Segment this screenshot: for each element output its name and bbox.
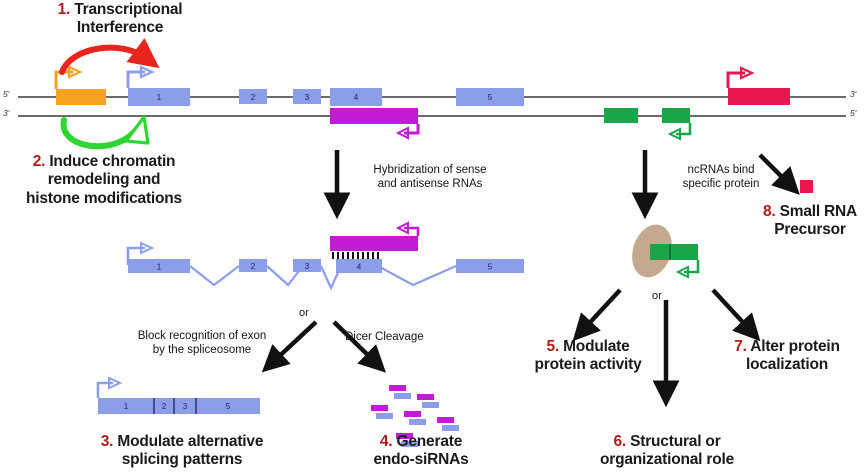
- step-2-number: 2.: [33, 153, 46, 170]
- ncrna-gene-1: [604, 108, 638, 123]
- step-7-number: 7.: [734, 338, 747, 355]
- step-7-line-1: Alter protein: [750, 338, 840, 355]
- step-4-label: 4. Generate endo-siRNAs: [341, 433, 501, 470]
- sirna-duplex: [404, 411, 426, 425]
- spliced-mrna: 1 2 3 5: [98, 378, 260, 414]
- small-rna-precursor-product: [800, 180, 813, 193]
- step-5-number: 5.: [546, 338, 559, 355]
- diagram-svg: 1 2 3 4 5: [0, 0, 864, 474]
- protein-ncrna-complex: [626, 219, 698, 282]
- ncrna-bind-line-1: ncRNAs bind: [687, 164, 754, 176]
- step-5-line-1: Modulate: [563, 338, 629, 355]
- svg-text:1: 1: [124, 402, 129, 411]
- annotation-dicer-cleavage: Dicer Cleavage: [345, 330, 465, 344]
- svg-text:4: 4: [357, 263, 362, 272]
- block-exon-line-1: Block recognition of exon: [138, 330, 267, 342]
- step-7-label: 7. Alter protein localization: [712, 338, 862, 375]
- step-6-line-1: Structural or: [630, 433, 720, 450]
- step-1-line-1: Transcriptional: [74, 1, 182, 18]
- dicer-label: Dicer Cleavage: [345, 331, 424, 343]
- step-8-label: 8. Small RNA Precursor: [756, 203, 864, 240]
- ncrna-bind-line-2: specific protein: [683, 178, 760, 190]
- step-8-line-2: Precursor: [774, 221, 845, 238]
- step-2-label: 2. Induce chromatin remodeling and histo…: [0, 153, 208, 208]
- step-1-line-2: Interference: [77, 19, 163, 36]
- svg-text:5: 5: [226, 402, 231, 411]
- hybridization-line-1: Hybridization of sense: [373, 164, 486, 176]
- hybridized-antisense-rna: [330, 223, 418, 259]
- svg-text:2: 2: [162, 402, 167, 411]
- step-3-line-1: Modulate alternative: [117, 433, 263, 450]
- svg-text:3: 3: [183, 402, 188, 411]
- label-top-strand-3prime: 3': [850, 89, 856, 99]
- annotation-block-spliceosome: Block recognition of exon by the spliceo…: [107, 329, 297, 358]
- sirna-duplex: [389, 385, 411, 399]
- svg-text:5: 5: [488, 93, 493, 102]
- chromatin-remodeling-arrow: [64, 117, 148, 146]
- hybridization-line-2: and antisense RNAs: [378, 178, 483, 190]
- step-2-line-2: remodeling and: [48, 171, 161, 188]
- sirna-duplex: [437, 417, 459, 431]
- step-1-number: 1.: [58, 1, 71, 18]
- gene-exon-3: 3: [293, 89, 321, 104]
- svg-text:2: 2: [251, 93, 256, 102]
- arrow-alter-localization: [713, 290, 750, 330]
- step-1-label: 1. Transcriptional Interference: [20, 1, 220, 38]
- svg-text:2: 2: [251, 262, 256, 271]
- arrow-modulate-protein-activity: [583, 290, 620, 330]
- label-bottom-strand-3prime: 3': [3, 108, 9, 118]
- pre-mrna-transcript: 1 2 3 4 5: [128, 243, 524, 288]
- svg-text:1: 1: [157, 263, 162, 272]
- svg-text:3: 3: [305, 262, 310, 271]
- ncrna-gene-2: [662, 108, 690, 139]
- svg-text:5: 5: [488, 263, 493, 272]
- small-rna-precursor-gene: [728, 68, 790, 105]
- step-5-line-2: protein activity: [534, 356, 641, 373]
- sirna-duplex: [417, 394, 439, 408]
- antisense-rna-gene: [330, 108, 418, 138]
- step-4-line-2: endo-siRNAs: [373, 451, 468, 468]
- base-pair-ticks: [333, 252, 378, 259]
- step-3-number: 3.: [101, 433, 114, 450]
- svg-text:4: 4: [354, 93, 359, 102]
- gene-exon-4: 4: [330, 88, 382, 106]
- gene-exon-1: 1: [128, 67, 190, 106]
- svg-text:1: 1: [157, 93, 162, 102]
- step-8-number: 8.: [763, 203, 776, 220]
- label-or-right: or: [652, 290, 662, 302]
- step-6-label: 6. Structural or organizational role: [574, 433, 760, 470]
- step-7-line-2: localization: [746, 356, 828, 373]
- step-6-number: 6.: [613, 433, 626, 450]
- annotation-hybridization: Hybridization of sense and antisense RNA…: [350, 163, 510, 192]
- sirna-duplex: [371, 405, 393, 419]
- step-6-line-2: organizational role: [600, 451, 734, 468]
- step-4-number: 4.: [380, 433, 393, 450]
- step-3-line-2: splicing patterns: [122, 451, 243, 468]
- label-or-left: or: [299, 307, 309, 319]
- gene-exon-2: 2: [239, 89, 267, 104]
- step-2-line-3: histone modifications: [26, 190, 182, 207]
- label-bottom-strand-5prime: 5': [850, 108, 856, 118]
- step-5-label: 5. Modulate protein activity: [508, 338, 668, 375]
- step-3-label: 3. Modulate alternative splicing pattern…: [58, 433, 306, 470]
- block-exon-line-2: by the spliceosome: [153, 344, 251, 356]
- annotation-ncrna-bind: ncRNAs bind specific protein: [656, 163, 786, 192]
- diagram-canvas: 1 2 3 4 5: [0, 0, 864, 474]
- step-2-line-1: Induce chromatin: [49, 153, 175, 170]
- label-top-strand-5prime: 5': [3, 89, 9, 99]
- svg-text:3: 3: [305, 93, 310, 102]
- step-8-line-1: Small RNA: [780, 203, 857, 220]
- gene-exon-5: 5: [456, 88, 524, 106]
- step-4-line-1: Generate: [397, 433, 463, 450]
